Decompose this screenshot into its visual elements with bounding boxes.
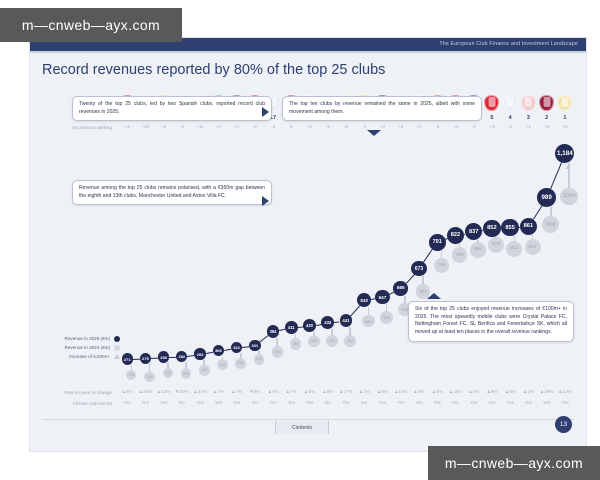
- yoy-change-cell-18: ▲15%: [446, 389, 464, 394]
- revenue-2024-bubble-9: 386: [290, 338, 302, 350]
- all-time-record-cell-3: No: [173, 400, 191, 405]
- legend-label-revenue-2024: Revenue in 2024 (€m): [65, 345, 110, 350]
- yoy-change-cell-16: ▲9%: [410, 389, 428, 394]
- revenue-2024-bubble-8: 352: [272, 346, 283, 357]
- revenue-2024-bubble-11: 400: [326, 335, 338, 347]
- all-time-record-cell-1: Yes: [136, 400, 154, 405]
- trend-connector-12: [350, 306, 360, 317]
- label-yoy-change: Year-on-year % change: [42, 390, 112, 395]
- all-time-record-cell-7: No: [246, 400, 264, 405]
- yoy-change-cell-7: ▼9%: [246, 389, 264, 394]
- page-number-badge: 13: [555, 416, 572, 433]
- all-time-record-cell-15: Yes: [392, 400, 410, 405]
- callout-polarised: Revenue among the top 25 clubs remains p…: [72, 180, 272, 205]
- label-vs-previous-ranking: Vs previous ranking: [42, 125, 112, 130]
- all-time-record-cell-17: Yes: [428, 400, 446, 405]
- row-vs-previous-ranking: +3+10+3-4+11+2+2-2-23+2-2+6-1+3+0+0-4+0-…: [118, 124, 574, 133]
- trend-connector-22: [533, 206, 542, 220]
- revenue-2024-bubble-2: 258: [163, 368, 173, 378]
- revenue-2024-bubble-7: 318: [254, 354, 265, 365]
- vs-previous-cell-18: +0: [446, 124, 464, 129]
- yoy-change-cell-4: ▲22%: [191, 389, 209, 394]
- all-time-record-cell-12: Yes: [337, 400, 355, 405]
- legend-item-revenue-2024: Revenue in 2024 (€m): [42, 343, 120, 352]
- trend-connector-16: [423, 249, 433, 263]
- watermark-top: m—cnweb—ayx.com: [0, 8, 182, 42]
- increase-100m-arrow-icon-24: [565, 165, 571, 169]
- legend-item-revenue-2025: Revenue in 2025 (€m): [42, 334, 120, 343]
- vs-previous-cell-4: +11: [191, 124, 209, 129]
- legend-item-increase-100m: Increase of €100m+: [42, 352, 120, 361]
- trend-connector-5: [224, 349, 231, 351]
- yoy-change-cell-17: ▲3%: [428, 389, 446, 394]
- yoy-change-cell-2: ▲13%: [155, 389, 173, 394]
- all-time-record-cell-14: Yes: [373, 400, 391, 405]
- revenue-2024-bubble-12: 402: [344, 335, 356, 347]
- revenue-2025-bubble-18: 822: [447, 227, 464, 244]
- all-time-record-cell-11: No: [319, 400, 337, 405]
- vs-previous-cell-21: -2: [501, 124, 519, 129]
- vs-previous-cell-23: +3: [538, 124, 556, 129]
- revenue-2024-bubble-10: 398: [308, 336, 320, 348]
- revenue-2025-bubble-1: 275: [140, 353, 151, 364]
- crest-shield-icon: [539, 95, 554, 111]
- yoy-change-cell-23: ▲29%: [538, 389, 556, 394]
- all-time-record-cell-24: Yes: [556, 400, 574, 405]
- vs-previous-cell-10: +2: [301, 124, 319, 129]
- all-time-record-cell-10: Yes: [301, 400, 319, 405]
- vs-previous-cell-2: +3: [155, 124, 173, 129]
- yoy-change-cell-3: ▼20%: [173, 389, 191, 394]
- yoy-change-cell-5: ▲7%: [209, 389, 227, 394]
- revenue-2025-bubble-17: 791: [429, 234, 446, 251]
- revenue-2025-bubble-0: 271: [122, 353, 133, 364]
- all-time-record-cell-23: Yes: [538, 400, 556, 405]
- callout-twenty-clubs: Twenty of the top 25 clubs, led by two S…: [72, 96, 272, 121]
- yoy-change-cell-19: ▲4%: [465, 389, 483, 394]
- revenue-2024-bubble-4: 269: [199, 365, 209, 375]
- revenue-2024-bubble-19: 806: [470, 242, 486, 258]
- vs-previous-cell-12: +6: [337, 124, 355, 129]
- revenue-2024-bubble-20: 829: [488, 237, 504, 253]
- watermark-bottom: m—cnweb—ayx.com: [428, 446, 600, 480]
- all-time-record-cell-16: Yes: [410, 400, 428, 405]
- all-time-record-cell-18: No: [446, 400, 464, 405]
- revenue-2025-bubble-7: 331: [249, 340, 261, 352]
- yoy-change-cell-14: ▲6%: [373, 389, 391, 394]
- revenue-2025-bubble-22: 861: [520, 218, 537, 235]
- row-all-time-record: YesYesYesNoYesYesYesNoYesYesYesNoYesNoYe…: [118, 400, 574, 409]
- vs-previous-cell-17: -4: [428, 124, 446, 129]
- revenue-2025-bubble-10: 420: [303, 319, 316, 332]
- all-time-record-cell-8: Yes: [264, 400, 282, 405]
- all-time-record-cell-21: Yes: [501, 400, 519, 405]
- revenue-2024-bubble-18: 782: [452, 247, 468, 263]
- club-crest-fc-barcelona: [539, 95, 554, 111]
- yoy-change-cell-8: ▲4%: [264, 389, 282, 394]
- revenue-2025-bubble-8: 394: [267, 325, 279, 337]
- vs-previous-cell-1: +10: [136, 124, 154, 129]
- trend-connector-11: [334, 321, 339, 323]
- revenue-2024-bubble-1: 241: [144, 372, 154, 382]
- trend-connector-7: [259, 335, 268, 343]
- vs-previous-cell-19: -3: [465, 124, 483, 129]
- running-head: The European Club Finance and Investment…: [439, 40, 578, 49]
- yoy-change-cell-10: ▲6%: [301, 389, 319, 394]
- all-time-record-cell-13: No: [355, 400, 373, 405]
- vs-previous-cell-13: -1: [355, 124, 373, 129]
- vs-previous-cell-20: +3: [483, 124, 501, 129]
- revenue-2024-bubble-14: 506: [380, 311, 393, 324]
- revenue-2024-bubble-17: 736: [434, 258, 449, 273]
- club-crest-manchester-city: [503, 95, 518, 111]
- legend-dot-previous-icon: [114, 345, 120, 351]
- yoy-change-cell-6: ▲7%: [228, 389, 246, 394]
- yoy-change-cell-13: ▲3%: [355, 389, 373, 394]
- revenue-2025-bubble-14: 547: [375, 290, 389, 304]
- club-crest-real-madrid: [557, 95, 572, 111]
- yoy-change-cell-11: ▲6%: [319, 389, 337, 394]
- revenue-2025-bubble-16: 673: [411, 261, 426, 276]
- vs-previous-cell-9: 3: [282, 124, 300, 129]
- vs-previous-cell-11: -2: [319, 124, 337, 129]
- yoy-change-cell-20: ▲9%: [483, 389, 501, 394]
- yoy-change-cell-9: ▲7%: [282, 389, 300, 394]
- chart-legend: Revenue in 2025 (€m) Revenue in 2024 (€m…: [42, 334, 120, 361]
- vs-previous-cell-16: +0: [410, 124, 428, 129]
- callout-pointer-right-2: [262, 196, 269, 206]
- all-time-record-cell-5: Yes: [209, 400, 227, 405]
- crest-shield-icon: [557, 95, 572, 111]
- all-time-record-cell-22: Yes: [519, 400, 537, 405]
- row-yoy-change: ▲6%▲20%▲13%▼20%▲22%▲7%▲7%▼9%▲4%▲7%▲6%▲6%…: [118, 389, 574, 398]
- revenue-2025-bubble-24: 1,184: [555, 144, 574, 163]
- revenue-2025-bubble-13: 532: [357, 293, 371, 307]
- vs-previous-cell-24: +0: [556, 124, 574, 129]
- revenue-2025-bubble-19: 837: [465, 223, 482, 240]
- revenue-2024-bubble-0: 250: [126, 370, 136, 380]
- vs-previous-cell-7: -2: [246, 124, 264, 129]
- revenue-2024-bubble-6: 301: [235, 358, 246, 369]
- revenue-2025-bubble-3: 282: [176, 351, 187, 362]
- revenue-2025-bubble-12: 441: [340, 314, 353, 327]
- revenue-2025-bubble-5: 308: [213, 345, 225, 357]
- yoy-change-cell-1: ▲20%: [136, 389, 154, 394]
- trend-connector-2: [169, 357, 176, 358]
- revenue-2024-bubble-23: 918: [542, 216, 559, 233]
- revenue-2024-bubble-3: 255: [181, 368, 191, 378]
- all-time-record-cell-2: Yes: [155, 400, 173, 405]
- vs-previous-cell-14: +3: [373, 124, 391, 129]
- club-crest-liverpool: [484, 95, 499, 111]
- vs-previous-cell-0: +3: [118, 124, 136, 129]
- legend-dot-current-icon: [114, 336, 120, 342]
- crest-shield-icon: [503, 95, 518, 111]
- revenue-scatter-chart: 2502412582552692953013183523863984004024…: [118, 133, 574, 383]
- trend-connector-6: [242, 346, 249, 348]
- yoy-change-cell-21: ▲5%: [501, 389, 519, 394]
- crest-shield-icon: [484, 95, 499, 111]
- trend-connector-4: [206, 352, 213, 354]
- revenue-2024-bubble-22: 817: [525, 239, 541, 255]
- revenue-2025-bubble-6: 322: [231, 342, 243, 354]
- revenue-2024-bubble-21: 811: [506, 241, 522, 257]
- callout-pointer-down-1: [367, 130, 381, 136]
- yoy-change-cell-12: ▲17%: [337, 389, 355, 394]
- revenue-2024-bubble-13: 489: [362, 315, 375, 328]
- callout-pointer-right-1: [262, 107, 269, 117]
- all-time-record-cell-20: Yes: [483, 400, 501, 405]
- legend-label-increase-100m: Increase of €100m+: [69, 354, 110, 359]
- legend-up-arrow-icon: [114, 354, 120, 359]
- label-all-time-record: All-time club record: [42, 401, 112, 406]
- vs-previous-cell-22: +1: [519, 124, 537, 129]
- vs-previous-cell-8: -2: [264, 124, 282, 129]
- callout-top-ten: The top ten clubs by revenue remained th…: [282, 96, 482, 121]
- document-page: The European Club Finance and Investment…: [0, 0, 600, 480]
- latest-ranking-cell-21: 4: [501, 115, 519, 121]
- callout-upwardly-mobile: Six of the top 25 clubs enjoyed revenue …: [408, 301, 574, 342]
- latest-ranking-cell-22: 3: [519, 115, 537, 121]
- yoy-change-cell-15: ▲13%: [392, 389, 410, 394]
- trend-connector-15: [406, 274, 415, 283]
- legend-label-revenue-2025: Revenue in 2025 (€m): [65, 336, 110, 341]
- revenue-2025-bubble-4: 293: [194, 348, 205, 359]
- revenue-2025-bubble-20: 852: [483, 220, 500, 237]
- vs-previous-cell-3: -4: [173, 124, 191, 129]
- crest-shield-icon: [521, 95, 536, 111]
- latest-ranking-cell-24: 1: [556, 115, 574, 121]
- yoy-change-cell-0: ▲6%: [118, 389, 136, 394]
- revenue-2024-bubble-5: 295: [217, 359, 228, 370]
- revenue-2025-bubble-9: 411: [285, 321, 298, 334]
- trend-connector-23: [550, 163, 562, 190]
- topbar-divider: [30, 51, 586, 53]
- all-time-record-cell-0: Yes: [118, 400, 136, 405]
- callout-pointer-up-1: [427, 293, 441, 299]
- all-time-record-cell-19: Yes: [465, 400, 483, 405]
- footer-divider: [42, 419, 574, 420]
- revenue-2024-bubble-24: 1044: [560, 188, 577, 205]
- revenue-2025-bubble-23: 989: [537, 188, 556, 207]
- vs-previous-cell-5: +2: [209, 124, 227, 129]
- contents-tab[interactable]: Contents: [275, 421, 329, 434]
- revenue-2025-bubble-11: 433: [321, 316, 334, 329]
- trend-connector-0: [133, 358, 140, 359]
- latest-ranking-cell-20: 5: [483, 115, 501, 121]
- revenue-2025-bubble-21: 855: [501, 219, 518, 236]
- yoy-change-cell-22: ▲2%: [519, 389, 537, 394]
- club-crest-bayern-munich: [521, 95, 536, 111]
- vs-previous-cell-6: +2: [228, 124, 246, 129]
- latest-ranking-cell-23: 2: [538, 115, 556, 121]
- yoy-change-cell-24: ▲13%: [556, 389, 574, 394]
- trend-connector-1: [151, 357, 158, 358]
- revenue-2025-bubble-15: 585: [393, 281, 408, 296]
- all-time-record-cell-9: Yes: [282, 400, 300, 405]
- slide-canvas: The European Club Finance and Investment…: [30, 38, 586, 451]
- all-time-record-cell-4: Yes: [191, 400, 209, 405]
- vs-previous-cell-15: +0: [392, 124, 410, 129]
- revenue-2025-bubble-2: 280: [158, 351, 169, 362]
- all-time-record-cell-6: Yes: [228, 400, 246, 405]
- page-title: Record revenues reported by 80% of the t…: [42, 62, 385, 78]
